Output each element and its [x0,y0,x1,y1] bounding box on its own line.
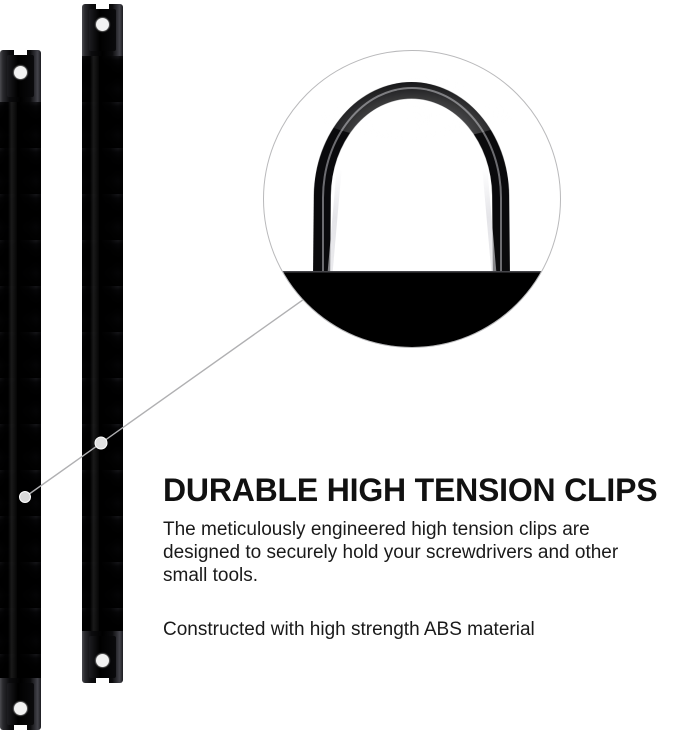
rail-long-clip-strip [82,56,123,631]
product-rail-short [0,50,41,730]
screw-hole-icon [14,702,27,715]
rail-specular-highlight [8,102,17,678]
rail-short-top-endcap [0,50,41,102]
feature-description-secondary: Constructed with high strength ABS mater… [163,618,655,641]
rail-short-clip-strip [0,102,41,678]
screw-hole-icon [96,18,109,31]
feature-description-primary: The meticulously engineered high tension… [163,518,655,587]
rail-short-bottom-endcap [0,678,41,730]
product-rail-long [82,4,123,683]
product-feature-image: DURABLE HIGH TENSION CLIPS The meticulou… [0,0,679,732]
clip-closeup-circle [263,50,561,348]
screw-hole-icon [14,66,27,79]
rail-long-top-endcap [82,4,123,56]
rail-long-bottom-endcap [82,631,123,683]
page-title: DURABLE HIGH TENSION CLIPS [163,472,673,508]
feature-text-block: DURABLE HIGH TENSION CLIPS The meticulou… [163,472,673,641]
rail-specular-highlight [90,56,99,631]
screw-hole-icon [96,654,109,667]
clip-base-plate [263,273,561,348]
